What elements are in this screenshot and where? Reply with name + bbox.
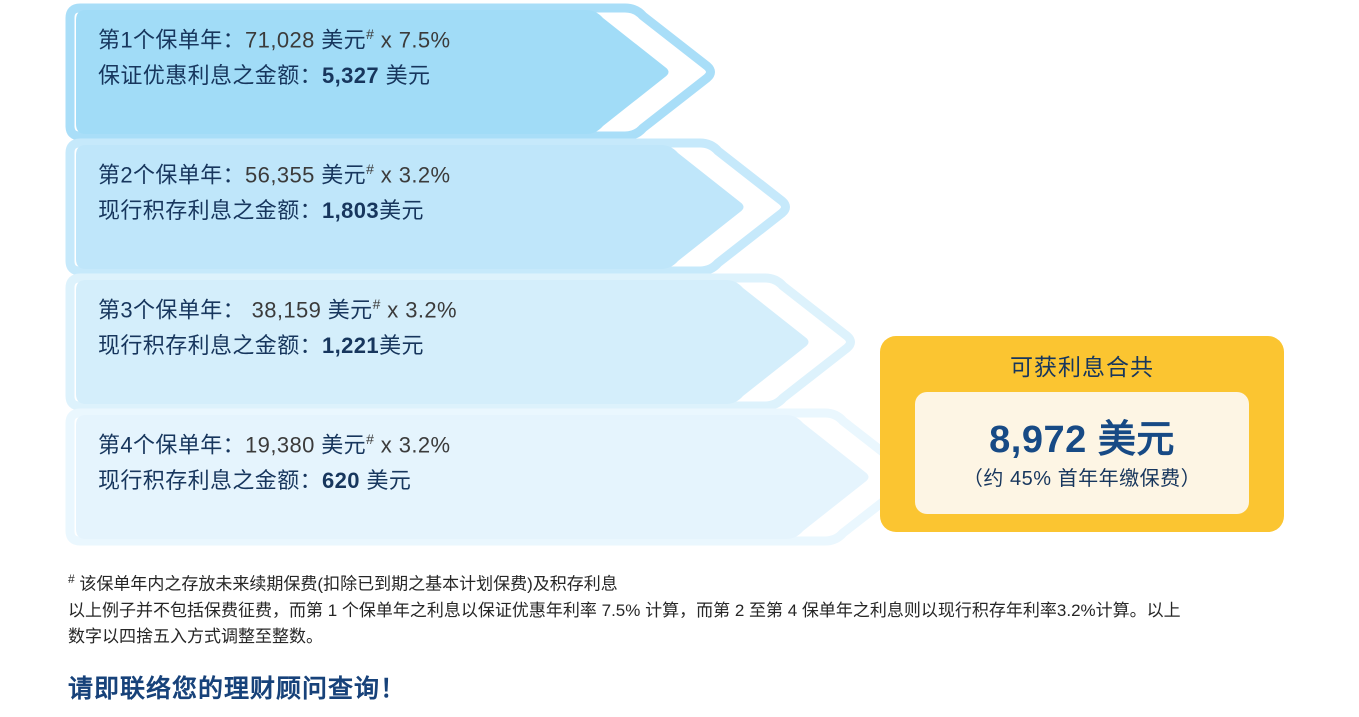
band-3-multiplier: x 3.2% <box>387 297 457 322</box>
footnote-line-3: 数字以四捨五入方式调整至整数。 <box>68 624 1318 650</box>
footnote-hash-mark: # <box>68 572 75 586</box>
band-3-year-label: 第3个保单年： <box>98 297 245 322</box>
band-1-multiplier: x 7.5% <box>381 27 451 52</box>
band-4-result-label: 现行积存利息之金额： <box>98 468 322 493</box>
band-3-text: 第3个保单年： 38,159 美元# x 3.2% 现行积存利息之金额：1,22… <box>98 297 457 357</box>
band-2-result-currency: 美元 <box>379 198 424 223</box>
band-2-currency: 美元 <box>321 162 366 187</box>
total-interest-amount: 8,972 美元 <box>915 408 1249 463</box>
footnote-line-2: 以上例子并不包括保费征费，而第 1 个保单年之利息以保证优惠年利率 7.5% 计… <box>68 598 1318 624</box>
band-3-result-value: 1,221 <box>322 333 379 358</box>
band-1-line-top: 第1个保单年：71,028 美元# x 7.5% <box>98 27 450 51</box>
footnote-line-1-text: 该保单年内之存放未来续期保费(扣除已到期之基本计划保费)及积存利息 <box>79 575 617 594</box>
total-interest-title: 可获利息合共 <box>880 348 1284 382</box>
total-interest-card: 可获利息合共 8,972 美元 （约 45% 首年年缴保费） <box>880 336 1284 532</box>
band-2-line-top: 第2个保单年：56,355 美元# x 3.2% <box>98 162 450 186</box>
band-1-result-currency: 美元 <box>386 63 431 88</box>
total-interest-note: （约 45% 首年年缴保费） <box>915 462 1249 491</box>
total-interest-inner-panel: 8,972 美元 （约 45% 首年年缴保费） <box>915 392 1249 514</box>
band-2-year-label: 第2个保单年： <box>98 162 245 187</box>
band-2-line-bottom: 现行积存利息之金额：1,803美元 <box>98 200 450 222</box>
band-1-year-label: 第1个保单年： <box>98 27 245 52</box>
band-1-principal: 71,028 <box>245 27 315 52</box>
band-2-text: 第2个保单年：56,355 美元# x 3.2% 现行积存利息之金额：1,803… <box>98 162 450 222</box>
band-1-currency: 美元 <box>321 27 366 52</box>
band-4-text: 第4个保单年：19,380 美元# x 3.2% 现行积存利息之金额：620 美… <box>98 432 450 492</box>
band-1-text: 第1个保单年：71,028 美元# x 7.5% 保证优惠利息之金额：5,327… <box>98 27 450 87</box>
cta-contact-advisor[interactable]: 请即联络您的理财顾问查询！ <box>68 669 406 705</box>
band-3-principal: 38,159 <box>252 297 322 322</box>
footnote-line-1: # 该保单年内之存放未来续期保费(扣除已到期之基本计划保费)及积存利息 <box>68 566 1318 598</box>
band-4-currency: 美元 <box>321 432 366 457</box>
band-4-year-label: 第4个保单年： <box>98 432 245 457</box>
band-1-result-label: 保证优惠利息之金额： <box>98 63 322 88</box>
band-4-result-currency: 美元 <box>366 468 411 493</box>
band-1-result-value: 5,327 <box>322 63 379 88</box>
band-2-principal: 56,355 <box>245 162 315 187</box>
band-3-line-top: 第3个保单年： 38,159 美元# x 3.2% <box>98 297 457 321</box>
band-1-line-bottom: 保证优惠利息之金额：5,327 美元 <box>98 65 450 87</box>
band-2-result-value: 1,803 <box>322 198 379 223</box>
band-2-multiplier: x 3.2% <box>381 162 451 187</box>
footnotes-block: # 该保单年内之存放未来续期保费(扣除已到期之基本计划保费)及积存利息 以上例子… <box>68 566 1318 650</box>
band-4-principal: 19,380 <box>245 432 315 457</box>
band-3-line-bottom: 现行积存利息之金额：1,221美元 <box>98 335 457 357</box>
band-3-currency: 美元 <box>328 297 373 322</box>
band-2-result-label: 现行积存利息之金额： <box>98 198 322 223</box>
band-4-result-value: 620 <box>322 468 360 493</box>
band-3-result-currency: 美元 <box>379 333 424 358</box>
band-3-result-label: 现行积存利息之金额： <box>98 333 322 358</box>
band-3-footnote-mark: # <box>373 296 381 312</box>
band-4-line-bottom: 现行积存利息之金额：620 美元 <box>98 470 450 492</box>
band-4-line-top: 第4个保单年：19,380 美元# x 3.2% <box>98 432 450 456</box>
band-4-multiplier: x 3.2% <box>381 432 451 457</box>
